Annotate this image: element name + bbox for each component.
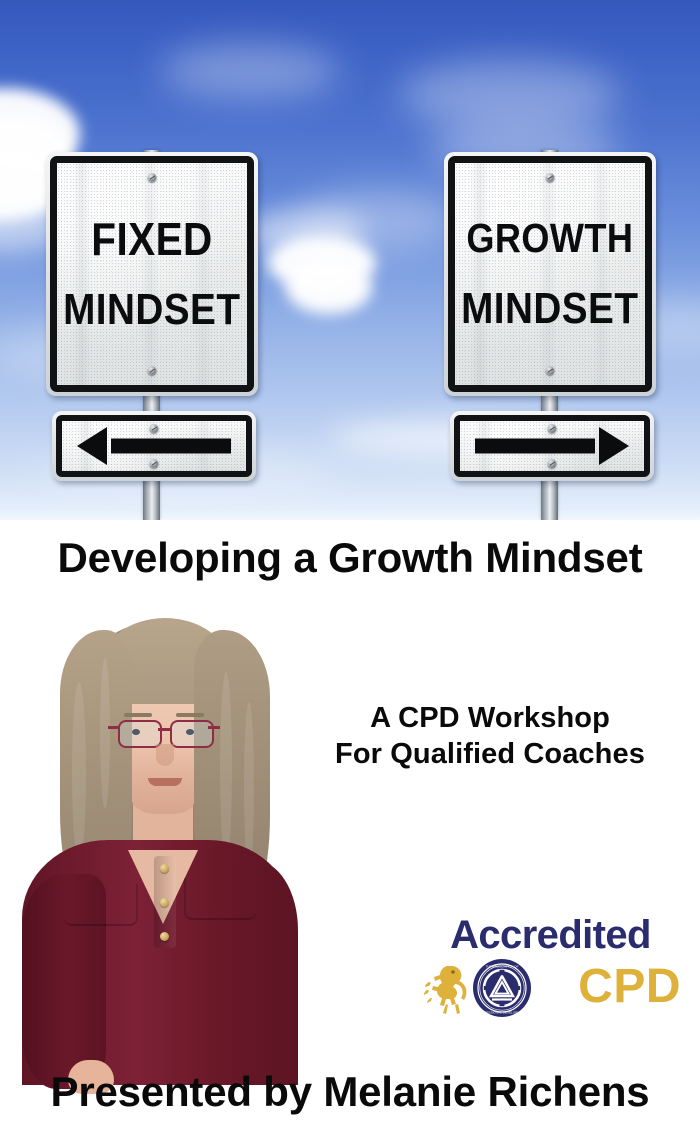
cloud-shape	[300, 190, 460, 250]
left-arrow-icon	[77, 429, 232, 463]
right-arrow-icon	[475, 429, 630, 463]
sign-screw-icon	[150, 459, 159, 468]
mouth	[148, 778, 182, 786]
sign-arrow-right	[450, 411, 654, 481]
sign-screw-icon	[548, 459, 557, 468]
hair-highlight	[72, 682, 86, 862]
presenter-photo	[8, 612, 308, 1072]
shirt-button	[160, 898, 169, 907]
eye-left	[132, 729, 140, 735]
subtitle-line-1: A CPD Workshop	[290, 700, 690, 736]
sign-growth-mindset: GROWTH MINDSET	[444, 152, 656, 396]
hair-highlight	[244, 702, 254, 872]
sign-screw-icon	[150, 424, 159, 433]
sign-screw-icon	[148, 366, 157, 375]
svg-text:THE ASSOCIATION OF: THE ASSOCIATION OF	[486, 964, 519, 968]
glasses-temple-left	[108, 726, 120, 729]
hair-highlight	[100, 658, 110, 808]
sign-fixed-mindset: FIXED MINDSET	[46, 152, 258, 396]
sign-arrow-left	[52, 411, 256, 481]
nose	[156, 744, 174, 766]
shirt-button	[160, 932, 169, 941]
cpd-seal-icon: THE ASSOCIATION OF PROFESSIONAL DEVELOPM…	[472, 958, 532, 1023]
hair-highlight	[220, 672, 232, 862]
sign-screw-icon	[148, 173, 157, 182]
sign-screw-icon	[548, 424, 557, 433]
eyebrow-left	[124, 713, 152, 717]
sign-fixed-line1: FIXED	[91, 216, 212, 262]
badge-cpd-text: CPD	[578, 958, 681, 1016]
presenter-credit: Presented by Melanie Richens	[0, 1068, 700, 1116]
chest-pocket-right	[184, 878, 256, 920]
shirt-button	[160, 864, 169, 873]
eye-right	[186, 729, 194, 735]
sign-fixed-line2: MINDSET	[63, 288, 240, 332]
cloud-shape	[160, 44, 340, 98]
badge-accredited-text: Accredited	[418, 912, 683, 958]
sky-background: FIXED MINDSET GROWTH MINDSET	[0, 0, 700, 520]
subtitle-line-2: For Qualified Coaches	[290, 736, 690, 772]
svg-text:PROFESSIONAL DEVELOPMENT: PROFESSIONAL DEVELOPMENT	[478, 1010, 526, 1014]
cloud-shape	[286, 262, 372, 314]
sign-screw-icon	[546, 366, 555, 375]
sign-growth-line2: MINDSET	[461, 287, 638, 331]
heraldic-lion-icon	[422, 960, 472, 1023]
subtitle: A CPD Workshop For Qualified Coaches	[290, 700, 690, 772]
eyebrow-right	[176, 713, 204, 717]
chest-pocket-left	[64, 884, 138, 926]
accredited-cpd-badge: Accredited	[418, 912, 683, 1020]
glasses-temple-right	[208, 726, 220, 729]
glasses-bridge	[158, 728, 170, 731]
sign-growth-line1: GROWTH	[467, 218, 634, 259]
sign-screw-icon	[546, 173, 555, 182]
page-title: Developing a Growth Mindset	[0, 534, 700, 582]
